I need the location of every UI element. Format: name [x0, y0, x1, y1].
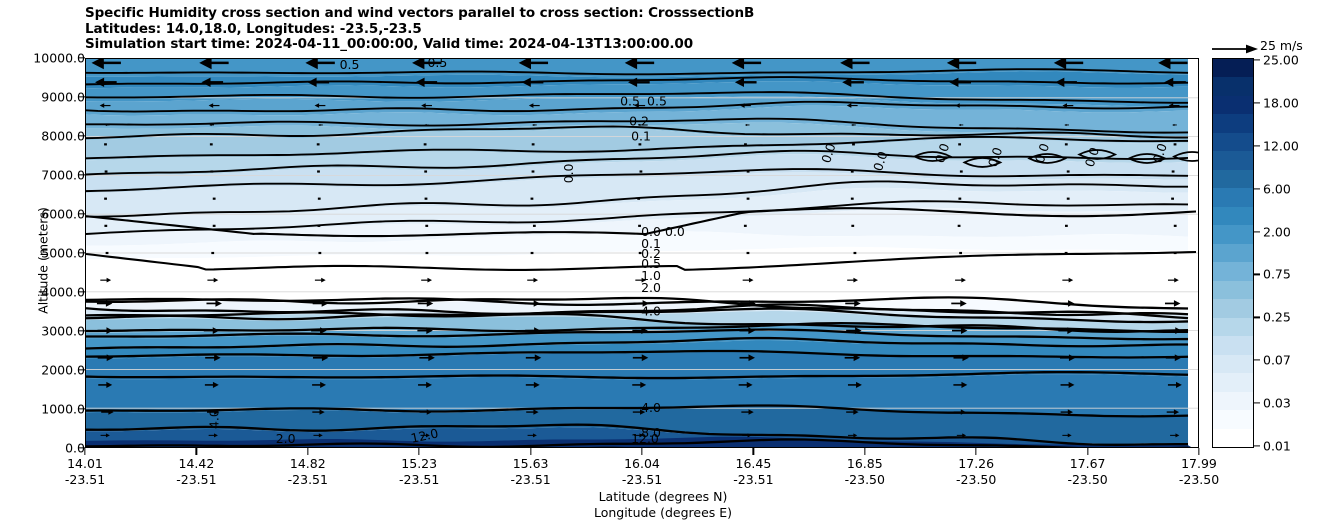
- x-axis-tick-mark: [864, 448, 865, 455]
- colorbar-band: [1213, 206, 1253, 225]
- contour-label: 0.5: [647, 94, 667, 109]
- x-axis-tick-mark: [1198, 448, 1199, 455]
- colorbar-band: [1213, 299, 1253, 318]
- colorbar-tick-mark: [1254, 231, 1260, 232]
- x-axis-latitude-tick-label: 16.04: [624, 456, 660, 471]
- x-axis-latitude-tick-label: 16.45: [735, 456, 771, 471]
- x-axis-longitude-tick-label: -23.51: [510, 472, 550, 487]
- colorbar: [1212, 58, 1254, 448]
- contour-label: 0.2: [629, 114, 649, 129]
- x-axis-longitude-tick-label: -23.51: [622, 472, 662, 487]
- colorbar-tick-mark: [1254, 102, 1260, 103]
- chart-title-line-3: Simulation start time: 2024-04-11_00:00:…: [85, 37, 1205, 53]
- x-axis-longitude-tick-label: -23.51: [176, 472, 216, 487]
- x-axis-tick-mark: [307, 448, 308, 455]
- colorbar-band: [1213, 114, 1253, 133]
- y-axis-tick-mark: [78, 213, 85, 214]
- y-axis-tick-mark: [78, 369, 85, 370]
- x-axis-tick-mark: [976, 448, 977, 455]
- colorbar-tick-mark: [1254, 145, 1260, 146]
- colorbar-tick-label: 12.00: [1263, 138, 1299, 153]
- x-axis-latitude-tick-label: 15.23: [401, 456, 437, 471]
- colorbar-tick-mark: [1254, 317, 1260, 318]
- colorbar-band: [1213, 132, 1253, 151]
- contour-label: 2.0: [641, 280, 661, 295]
- x-axis-latitude-tick-label: 16.85: [847, 456, 883, 471]
- colorbar-band: [1213, 372, 1253, 391]
- colorbar-tick-label: 6.00: [1263, 181, 1291, 196]
- x-axis-latitude-tick-label: 14.82: [290, 456, 326, 471]
- colorbar-tick-mark: [1254, 59, 1260, 60]
- colorbar-tick-label: 0.03: [1263, 396, 1291, 411]
- colorbar-band: [1213, 169, 1253, 188]
- contour-label: 0.5: [427, 59, 447, 70]
- cross-section-canvas: 0.50.50.50.50.20.10.00.00.00.10.20.51.02…: [86, 59, 1198, 447]
- x-axis-longitude-tick-label: -23.51: [288, 472, 328, 487]
- x-axis-longitude-tick-label: -23.50: [1179, 472, 1219, 487]
- contour-label: 0.5: [620, 94, 640, 109]
- colorbar-band: [1213, 225, 1253, 244]
- colorbar-band: [1213, 262, 1253, 281]
- chart-title: Specific Humidity cross section and wind…: [85, 6, 1205, 53]
- x-axis-label-longitude: Longitude (degrees E): [0, 505, 1326, 520]
- contour-label: 0.5: [340, 59, 360, 72]
- y-axis-label: Altitude (meters): [36, 171, 51, 351]
- y-axis-tick-mark: [78, 291, 85, 292]
- colorbar-tick-label: 0.25: [1263, 310, 1291, 325]
- x-axis-latitude-tick-label: 14.42: [178, 456, 214, 471]
- x-axis-longitude-tick-label: -23.51: [65, 472, 105, 487]
- colorbar-tick-mark: [1254, 360, 1260, 361]
- x-axis-tick-mark: [753, 448, 754, 455]
- colorbar-band: [1213, 95, 1253, 114]
- x-axis-latitude-tick-label: 17.99: [1181, 456, 1217, 471]
- y-axis-tick-mark: [78, 330, 85, 331]
- colorbar-band: [1213, 428, 1253, 447]
- colorbar-tick-label: 0.01: [1263, 439, 1291, 454]
- colorbar-band: [1213, 151, 1253, 170]
- y-axis-tick-mark: [78, 408, 85, 409]
- chart-title-line-1: Specific Humidity cross section and wind…: [85, 6, 1205, 22]
- colorbar-band: [1213, 391, 1253, 410]
- y-axis-tick-mark: [78, 57, 85, 58]
- colorbar-band: [1213, 280, 1253, 299]
- x-axis-longitude-tick-label: -23.50: [1067, 472, 1107, 487]
- x-axis-tick-mark: [641, 448, 642, 455]
- x-axis-tick-mark: [84, 448, 85, 455]
- x-axis-label-latitude: Latitude (degrees N): [0, 489, 1326, 504]
- x-axis-latitude-tick-label: 15.63: [513, 456, 549, 471]
- colorbar-band: [1213, 354, 1253, 373]
- contour-label: 0.0: [665, 224, 685, 239]
- x-axis-longitude-tick-label: -23.50: [956, 472, 996, 487]
- x-axis-tick-mark: [530, 448, 531, 455]
- colorbar-band: [1213, 58, 1253, 77]
- colorbar-tick-label: 18.00: [1263, 95, 1299, 110]
- contour-label: 0.0: [561, 163, 576, 183]
- colorbar-band: [1213, 243, 1253, 262]
- x-axis-longitude-tick-label: -23.51: [399, 472, 439, 487]
- x-axis-tick-mark: [1087, 448, 1088, 455]
- contour-label: 2.0: [276, 431, 296, 446]
- contour-label: 0.1: [631, 129, 651, 144]
- colorbar-tick-label: 0.07: [1263, 353, 1291, 368]
- x-axis-latitude-tick-label: 17.26: [958, 456, 994, 471]
- x-axis-tick-mark: [196, 448, 197, 455]
- x-axis-latitude-tick-label: 17.67: [1070, 456, 1106, 471]
- x-axis-longitude-tick-label: -23.50: [845, 472, 885, 487]
- contour-label: 12.0: [631, 431, 659, 446]
- x-axis-tick-mark: [419, 448, 420, 455]
- colorbar-band: [1213, 317, 1253, 336]
- colorbar-band: [1213, 335, 1253, 354]
- colorbar-tick-mark: [1254, 274, 1260, 275]
- cross-section-plot: 0.50.50.50.50.20.10.00.00.00.10.20.51.02…: [85, 58, 1199, 448]
- colorbar-band: [1213, 409, 1253, 428]
- colorbar-tick-label: 25.00: [1263, 53, 1299, 68]
- colorbar-band: [1213, 188, 1253, 207]
- colorbar-tick-mark: [1254, 445, 1260, 446]
- x-axis-longitude-tick-label: -23.51: [733, 472, 773, 487]
- contour-label: 4.0: [641, 304, 661, 319]
- colorbar-band: [1213, 77, 1253, 96]
- x-axis-latitude-tick-label: 14.01: [67, 456, 103, 471]
- y-axis-tick-mark: [78, 252, 85, 253]
- y-axis-tick-mark: [78, 174, 85, 175]
- y-axis-tick-mark: [78, 135, 85, 136]
- y-axis-tick-mark: [78, 96, 85, 97]
- contour-label: 4.0: [641, 400, 661, 415]
- colorbar-tick-label: 0.75: [1263, 267, 1291, 282]
- wind-vector-key-label: 25 m/s: [1260, 38, 1303, 53]
- arrow-right-icon: [1212, 44, 1258, 54]
- contour-label: 4.0: [207, 409, 222, 429]
- colorbar-tick-mark: [1254, 188, 1260, 189]
- colorbar-tick-label: 2.00: [1263, 224, 1291, 239]
- chart-title-line-2: Latitudes: 14.0,18.0, Longitudes: -23.5,…: [85, 22, 1205, 38]
- colorbar-tick-mark: [1254, 403, 1260, 404]
